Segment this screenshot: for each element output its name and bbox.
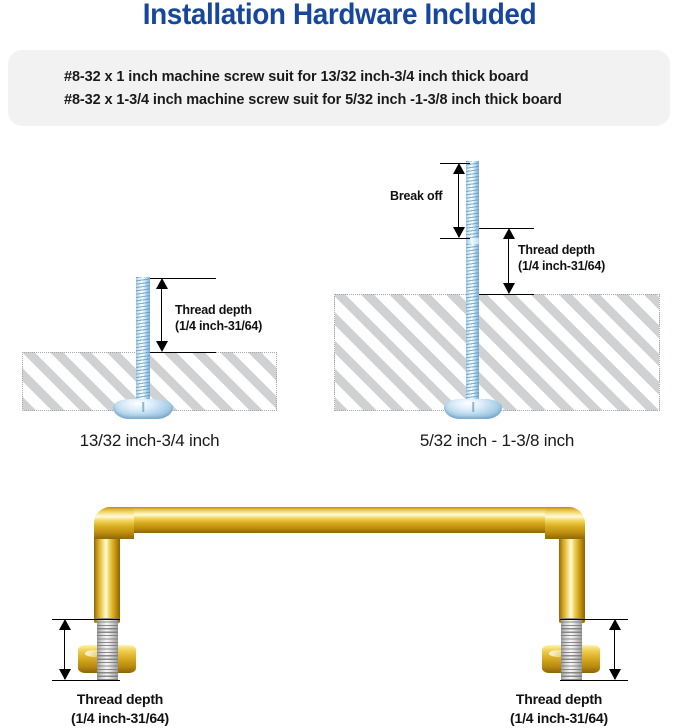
handle-left-post <box>94 526 120 623</box>
handle-right-screw-thread-tip <box>561 645 582 680</box>
dim-arrow-down-right-foot <box>609 669 621 680</box>
dim-ext-bottom-left <box>150 352 216 353</box>
dim-arrow-up-left <box>156 278 168 289</box>
dim-ext-bottom-right <box>479 294 534 295</box>
dim-arrow-up-breakoff <box>453 163 465 174</box>
dim-arrow-up-right-foot <box>609 619 621 630</box>
thread-ribs-icon <box>561 645 582 680</box>
dim-arrow-down-left-foot <box>59 669 71 680</box>
spec-box: #8-32 x 1 inch machine screw suit for 13… <box>8 50 670 126</box>
thread-depth-line1: Thread depth <box>0 690 240 709</box>
screw-threads-icon <box>466 161 479 237</box>
spec-line-2: #8-32 x 1-3/4 inch machine screw suit fo… <box>64 92 562 108</box>
board-thickness-label-left: 13/32 inch-3/4 inch <box>22 431 277 451</box>
cabinet-pull-handle: Thread depth (1/4 inch-31/64) Thread dep… <box>0 490 679 690</box>
handle-top-bar <box>112 507 567 533</box>
screw-slot-icon <box>472 402 474 412</box>
thread-depth-line1: Thread depth <box>439 690 679 709</box>
handle-right-elbow <box>545 507 585 539</box>
page-title: Installation Hardware Included <box>24 0 655 32</box>
thread-depth-line1: Thread depth <box>175 302 262 318</box>
screw-head-right <box>444 399 502 419</box>
screw-head-left <box>113 399 173 419</box>
screw-breakoff-segment-right <box>466 161 479 237</box>
screw-threads-icon <box>136 277 150 409</box>
handle-left-thread-depth-label: Thread depth (1/4 inch-31/64) <box>0 690 240 728</box>
dim-ext-bottom-breakoff <box>440 238 470 239</box>
product-infographic: Installation Hardware Included #8-32 x 1… <box>0 0 679 690</box>
dim-arrow-down-right <box>503 283 515 294</box>
thread-depth-line2: (1/4 inch-31/64) <box>439 709 679 728</box>
screw-shank-left <box>136 277 150 409</box>
dim-line-left <box>161 280 162 350</box>
thread-depth-line2: (1/4 inch-31/64) <box>175 318 262 334</box>
screw-shank-right <box>466 244 479 409</box>
dim-arrow-up-left-foot <box>59 619 71 630</box>
handle-left-screw-thread-tip <box>97 645 118 680</box>
screw-slot-icon <box>142 402 144 412</box>
thread-depth-label-right: Thread depth (1/4 inch-31/64) <box>518 242 605 274</box>
thread-depth-line2: (1/4 inch-31/64) <box>518 258 605 274</box>
spec-line-1: #8-32 x 1 inch machine screw suit for 13… <box>64 69 529 85</box>
dim-arrow-down-left <box>156 341 168 352</box>
dim-ext-bottom-right-foot <box>560 680 628 681</box>
handle-right-thread-depth-label: Thread depth (1/4 inch-31/64) <box>439 690 679 728</box>
thread-ribs-icon <box>97 645 118 680</box>
board-thickness-label-right: 5/32 inch - 1-3/8 inch <box>334 431 660 451</box>
thread-depth-line2: (1/4 inch-31/64) <box>0 709 240 728</box>
handle-right-post <box>559 526 585 623</box>
break-off-label: Break off <box>390 188 442 204</box>
thread-depth-label-left: Thread depth (1/4 inch-31/64) <box>175 302 262 334</box>
screw-threads-icon <box>466 244 479 409</box>
handle-left-elbow <box>94 507 134 539</box>
thread-depth-line1: Thread depth <box>518 242 605 258</box>
board-cross-section-right <box>334 294 660 411</box>
dim-arrow-up-right <box>503 228 515 239</box>
dim-arrow-down-breakoff <box>453 227 465 238</box>
dim-ext-bottom-left-foot <box>52 680 120 681</box>
